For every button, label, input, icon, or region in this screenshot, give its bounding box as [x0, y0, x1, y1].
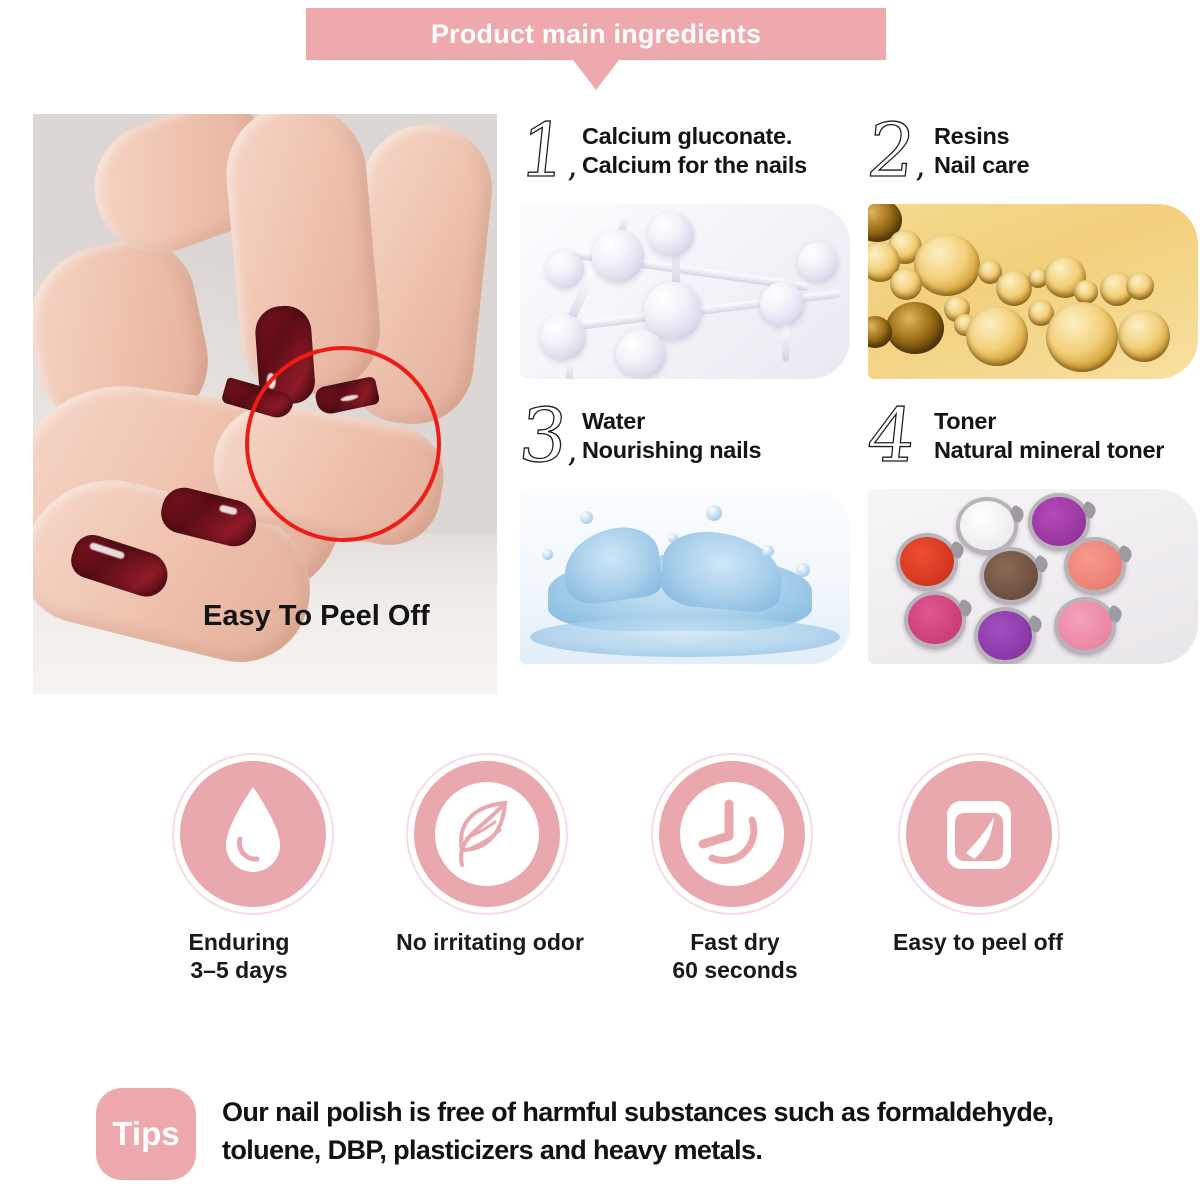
feature-label: Easy to peel off	[834, 929, 1122, 957]
powder-dish-magenta	[904, 591, 966, 649]
ingredient-text: Toner Natural mineral toner	[934, 407, 1164, 464]
ingredient-card-1: 1, Calcium gluconate. Calcium for the na…	[520, 120, 850, 379]
mineral-powder-image	[868, 489, 1198, 664]
oil-bubble	[996, 270, 1032, 306]
water-droplet	[762, 545, 774, 557]
water-droplet	[580, 511, 593, 524]
powder-dish-violet	[974, 607, 1036, 664]
ingredient-number-glyph: 3	[516, 399, 571, 473]
molecule-atom	[798, 242, 838, 282]
ingredient-heading: 4 Toner Natural mineral toner	[868, 405, 1198, 489]
water-crown-left	[559, 523, 664, 608]
water-droplet	[796, 563, 810, 577]
ingredient-card-4: 4 Toner Natural mineral toner	[868, 405, 1198, 664]
molecule-atom	[760, 282, 804, 326]
ingredient-card-3: 3, Water Nourishing nails	[520, 405, 850, 664]
feature-label-line-2: 3–5 days	[82, 957, 396, 985]
tips-text: Our nail polish is free of harmful subst…	[222, 1093, 1162, 1170]
dish-powder	[960, 501, 1014, 550]
clock-icon	[656, 758, 802, 904]
tips-badge-label: Tips	[112, 1115, 179, 1153]
ingredient-number: 1,	[520, 114, 578, 188]
molecule-atom	[546, 250, 584, 288]
water-crown-right	[659, 528, 785, 614]
hero-caption: Easy To Peel Off	[203, 600, 430, 633]
oil-bubble	[1118, 310, 1170, 362]
molecule-atom	[540, 314, 586, 360]
oil-bubble	[1046, 302, 1118, 372]
feature-circle	[174, 755, 332, 913]
ingredient-number-dot: ,	[567, 145, 578, 185]
ingredient-line-2: Nail care	[934, 151, 1029, 180]
peeling-nail-icon	[906, 761, 1052, 907]
feature-label-line-2: 60 seconds	[585, 957, 885, 985]
hero-product-photo: Easy To Peel Off	[33, 114, 497, 694]
ingredient-line-2: Natural mineral toner	[934, 436, 1164, 465]
dish-powder	[978, 611, 1032, 660]
water-droplet	[668, 533, 678, 543]
ingredient-number-dot: ,	[915, 145, 926, 185]
ingredient-number: 4	[868, 399, 915, 473]
leaf-icon	[411, 758, 557, 904]
ingredient-number-glyph: 4	[864, 399, 919, 473]
powder-dish-salmon	[1064, 537, 1126, 595]
highlight-circle-annotation	[245, 346, 441, 542]
ingredient-text: Resins Nail care	[934, 122, 1029, 179]
dish-powder	[908, 595, 962, 644]
feature-circle	[653, 755, 811, 913]
molecule-atom	[644, 282, 702, 340]
feature-circle	[900, 755, 1058, 913]
powder-dish-red	[896, 533, 958, 591]
ingredient-line-2: Calcium for the nails	[582, 151, 807, 180]
water-splash-image	[520, 489, 850, 664]
molecule-atom	[616, 330, 666, 378]
oil-bubble	[886, 302, 944, 354]
oil-bubble	[1126, 272, 1154, 300]
dish-powder	[900, 537, 954, 586]
powder-dish-brown	[980, 547, 1042, 605]
molecule-image	[520, 204, 850, 379]
ingredient-heading: 1, Calcium gluconate. Calcium for the na…	[520, 120, 850, 204]
ingredient-heading: 3, Water Nourishing nails	[520, 405, 850, 489]
dish-powder	[984, 551, 1038, 600]
ingredient-number-dot: ,	[567, 430, 578, 470]
ingredient-card-2: 2, Resins Nail care	[868, 120, 1198, 379]
dish-powder	[1058, 601, 1112, 650]
oil-bubble	[914, 234, 980, 296]
oil-bubble	[966, 306, 1028, 366]
header-banner: Product main ingredients	[306, 8, 886, 60]
ingredient-text: Water Nourishing nails	[582, 407, 761, 464]
water-surface	[530, 617, 840, 657]
powder-dish-pink	[1054, 597, 1116, 655]
molecule-atom	[592, 230, 644, 282]
feature-circle	[408, 755, 566, 913]
water-droplet	[706, 505, 722, 521]
banner-arrow-icon	[573, 60, 619, 90]
feature-easy-peel: Easy to peel off	[822, 755, 1122, 957]
molecule-bond	[566, 358, 573, 379]
tips-line-2: toluene, DBP, plasticizers and heavy met…	[222, 1131, 1162, 1169]
tips-line-1: Our nail polish is free of harmful subst…	[222, 1093, 1162, 1131]
ingredient-line-1: Water	[582, 407, 761, 436]
molecule-bond	[782, 322, 789, 362]
oil-bubbles-image	[868, 204, 1198, 379]
nail-shine	[219, 504, 238, 515]
ingredient-line-1: Resins	[934, 122, 1029, 151]
ingredient-line-1: Calcium gluconate.	[582, 122, 807, 151]
ingredient-number: 2,	[868, 114, 926, 188]
ingredient-heading: 2, Resins Nail care	[868, 120, 1198, 204]
page-title: Product main ingredients	[431, 19, 761, 50]
dish-powder	[1032, 497, 1086, 546]
ingredient-number-glyph: 1	[516, 114, 571, 188]
feature-label-line-1: Easy to peel off	[834, 929, 1122, 957]
water-drop-icon	[180, 761, 326, 907]
ingredient-text: Calcium gluconate. Calcium for the nails	[582, 122, 807, 179]
water-droplet	[542, 549, 553, 560]
tips-badge: Tips	[96, 1088, 196, 1180]
ingredient-number-glyph: 2	[864, 114, 919, 188]
ingredient-number: 3,	[520, 399, 578, 473]
ingredient-line-2: Nourishing nails	[582, 436, 761, 465]
molecule-atom	[648, 212, 694, 256]
ingredient-line-1: Toner	[934, 407, 1164, 436]
nail-shine	[89, 542, 125, 560]
oil-bubble	[1074, 280, 1098, 304]
oil-bubble	[890, 268, 922, 300]
dish-powder	[1068, 541, 1122, 590]
